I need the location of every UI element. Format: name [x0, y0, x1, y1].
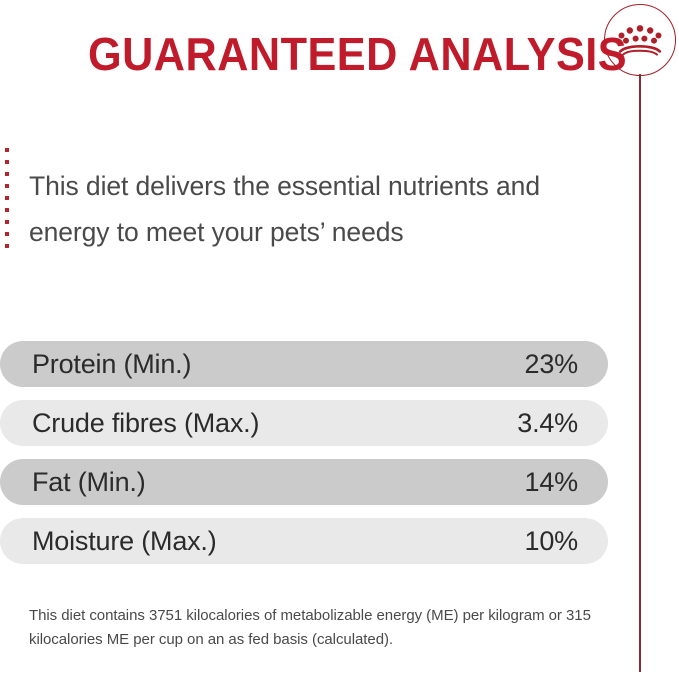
logo-stem-line — [639, 74, 641, 672]
nutrient-label: Protein (Min.) — [32, 351, 525, 378]
nutrient-value: 23% — [525, 351, 578, 378]
nutrient-label: Crude fibres (Max.) — [32, 410, 517, 437]
nutrient-value: 14% — [525, 469, 578, 496]
nutrient-label: Moisture (Max.) — [32, 528, 525, 555]
table-row: Fat (Min.) 14% — [0, 459, 608, 505]
nutrient-value: 3.4% — [517, 410, 578, 437]
table-row: Protein (Min.) 23% — [0, 341, 608, 387]
guaranteed-analysis-table: Protein (Min.) 23% Crude fibres (Max.) 3… — [0, 341, 608, 577]
page-title: GUARANTEED ANALYSIS — [88, 27, 627, 81]
table-row: Moisture (Max.) 10% — [0, 518, 608, 564]
nutrient-label: Fat (Min.) — [32, 469, 525, 496]
intro-paragraph: This diet delivers the essential nutrien… — [29, 163, 609, 255]
calorie-footnote: This diet contains 3751 kilocalories of … — [29, 604, 604, 652]
nutrient-value: 10% — [525, 528, 578, 555]
dotted-accent-rail — [5, 148, 9, 250]
table-row: Crude fibres (Max.) 3.4% — [0, 400, 608, 446]
